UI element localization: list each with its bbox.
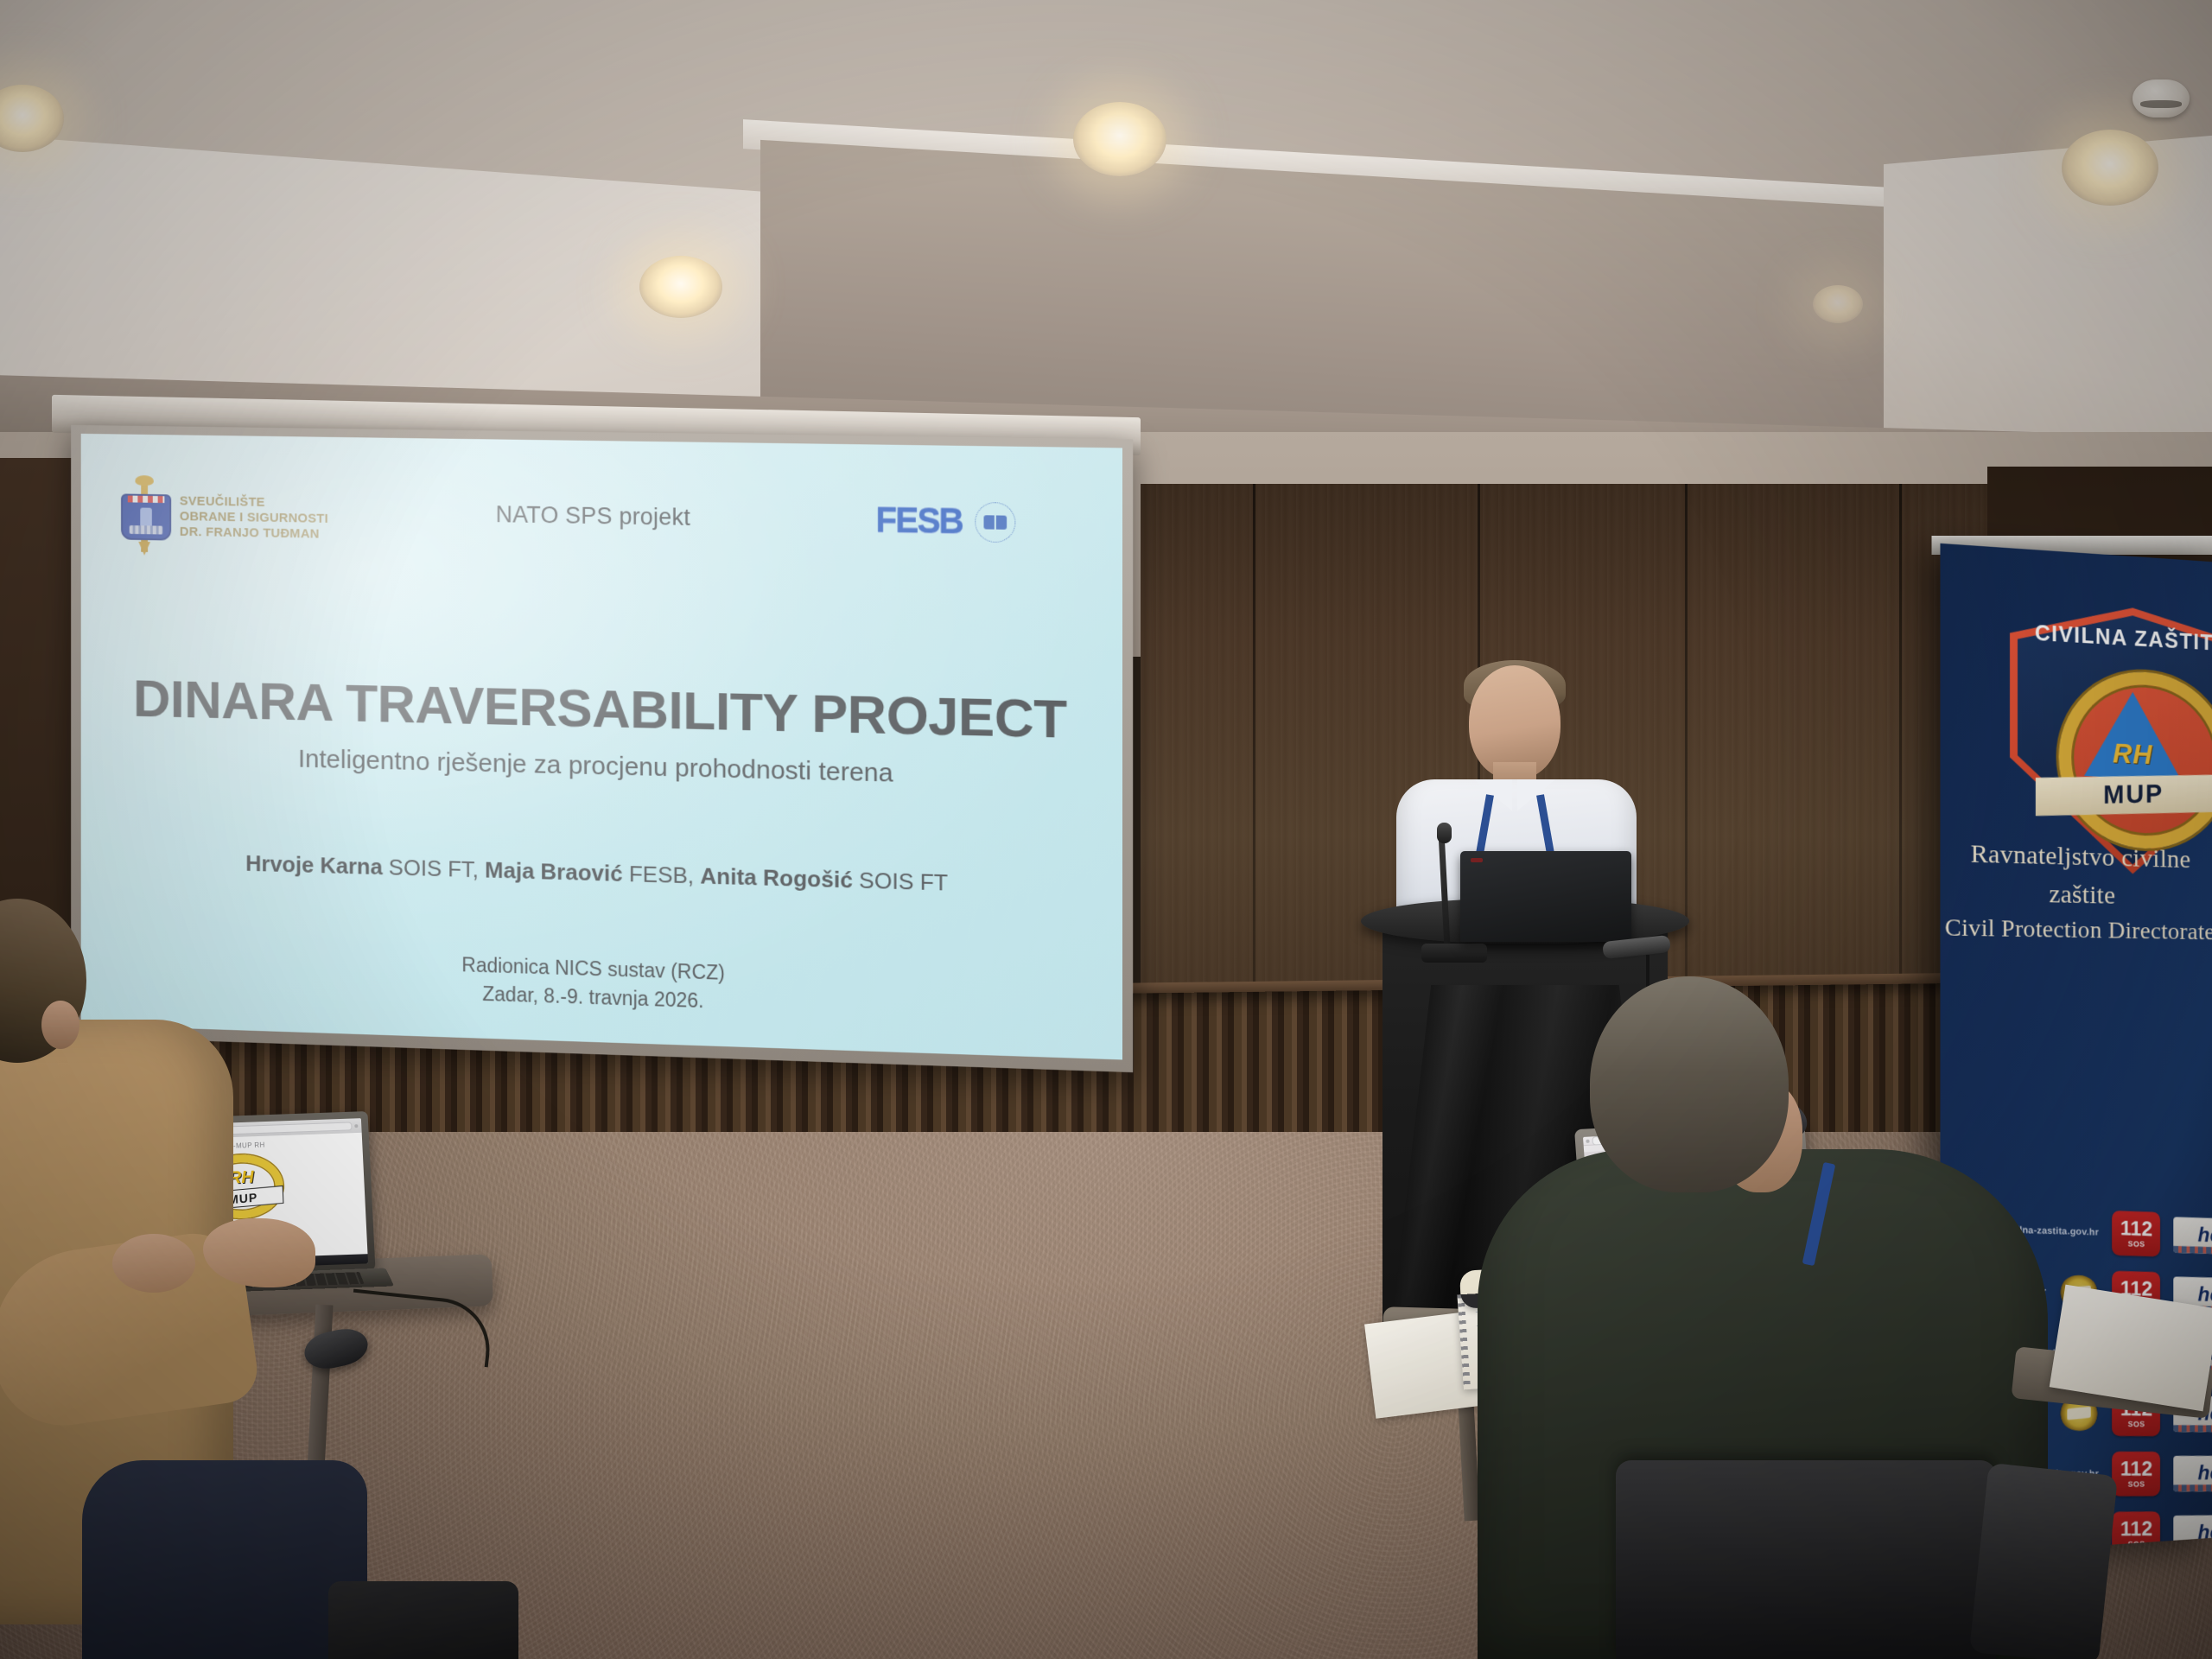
civil-protection-shield-emblem-icon: CIVILNA ZAŠTITA RH MUP bbox=[2010, 601, 2212, 877]
author-entry: Maja Braović FESB bbox=[485, 857, 688, 889]
slide-title: DINARA TRAVERSABILITY PROJECT bbox=[81, 667, 1122, 752]
fesb-wordmark: FESB bbox=[875, 501, 963, 542]
author-affiliation: FESB bbox=[629, 861, 688, 888]
ceiling-downlight bbox=[2062, 130, 2158, 206]
author-name: Hrvoje Karna bbox=[245, 850, 382, 880]
left-attendee-leg bbox=[82, 1460, 367, 1659]
banner-title-en: Civil Protection Directorate bbox=[1940, 911, 2212, 950]
author-affiliation: SOIS FT bbox=[389, 855, 473, 883]
right-attendee-head bbox=[1590, 976, 1789, 1192]
author-name: Anita Rogošić bbox=[700, 862, 852, 893]
smoke-detector-icon bbox=[2133, 79, 2190, 118]
microphone-head bbox=[1437, 823, 1452, 843]
microphone-base bbox=[1421, 944, 1487, 963]
chair-armrest bbox=[1969, 1463, 2118, 1659]
left-attendee-hand-left bbox=[112, 1234, 195, 1293]
left-attendee-ear bbox=[41, 1001, 79, 1049]
author-entry: Anita Rogošić SOIS FT bbox=[700, 862, 948, 895]
open-book-seal-icon bbox=[975, 502, 1015, 543]
112-sos-icon: 112SOS bbox=[2112, 1452, 2160, 1497]
browser-menu-icon[interactable] bbox=[354, 1124, 358, 1128]
ceiling-downlight bbox=[1813, 285, 1863, 323]
hcr-logo-icon: hcr bbox=[2174, 1456, 2212, 1492]
banner-title: Ravnateljstvo civilne zaštite Civil Prot… bbox=[1940, 834, 2212, 950]
right-attendee-chair bbox=[1616, 1460, 1996, 1659]
banner-title-hr: Ravnateljstvo civilne zaštite bbox=[1940, 834, 2212, 916]
ceiling-downlight bbox=[639, 256, 722, 318]
emblem-mup-text: MUP bbox=[2103, 780, 2164, 810]
hcr-logo-icon: hcr bbox=[2174, 1217, 2212, 1255]
left-attendee-bag bbox=[328, 1581, 518, 1659]
emblem-rh-text: RH bbox=[2104, 737, 2161, 771]
university-line-3: DR. FRANJO TUĐMAN bbox=[180, 524, 328, 543]
slide-authors: Hrvoje Karna SOIS FT, Maja Braović FESB,… bbox=[81, 846, 1122, 902]
author-entry: Hrvoje Karna SOIS FT bbox=[245, 850, 473, 882]
112-sos-icon: 112SOS bbox=[2112, 1211, 2160, 1256]
author-name: Maja Braović bbox=[485, 857, 623, 887]
ceiling-downlight bbox=[1073, 102, 1166, 176]
presentation-photo-scene: SVEUČILIŠTE OBRANE I SIGURNOSTI DR. FRAN… bbox=[0, 0, 2212, 1659]
author-affiliation: SOIS FT bbox=[859, 867, 948, 895]
slide-header: SVEUČILIŠTE OBRANE I SIGURNOSTI DR. FRAN… bbox=[81, 471, 1122, 566]
fesb-logo: FESB bbox=[875, 500, 1015, 543]
presenter-laptop[interactable] bbox=[1460, 851, 1631, 942]
